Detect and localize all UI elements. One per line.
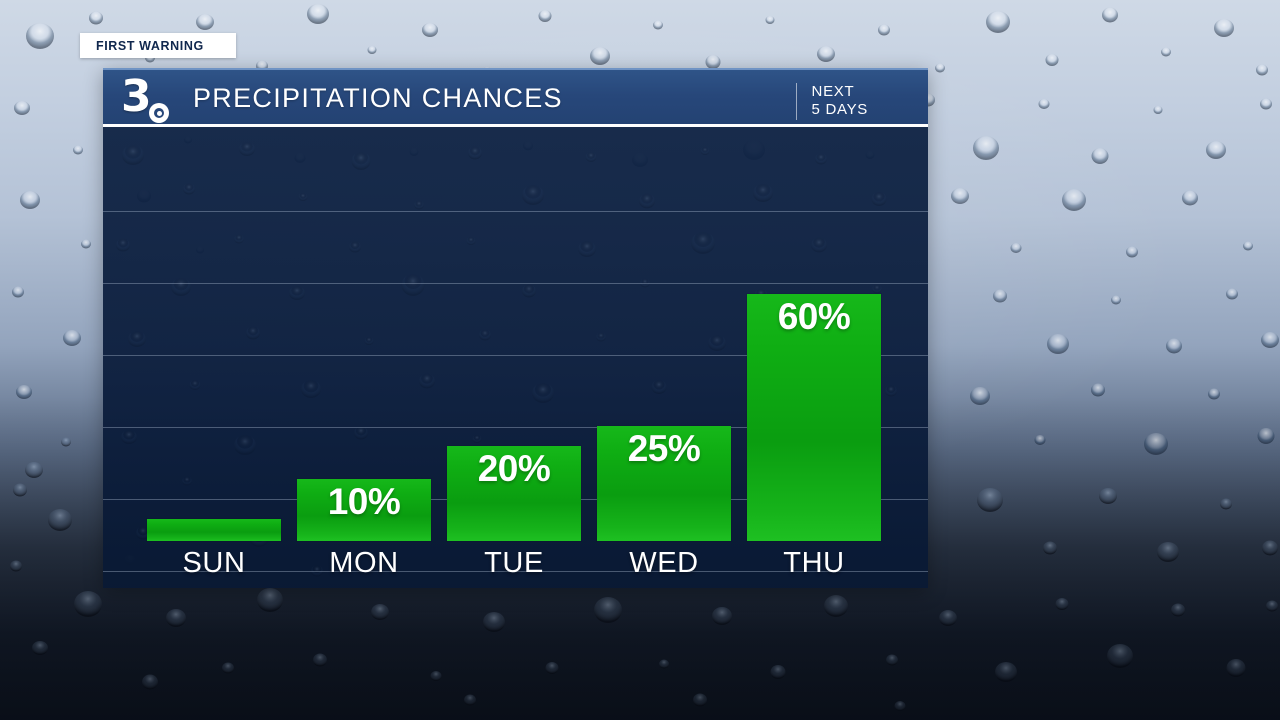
bar-group-wed: 25% WED [597,127,731,588]
bar-mon: 10% [297,479,431,541]
day-label-thu: THU [739,547,889,580]
forecast-range-line1: NEXT [812,83,868,101]
forecast-range: NEXT 5 DAYS [796,83,868,120]
precipitation-chart-panel: 3 PRECIPITATION CHANCES NEXT 5 DAYS [103,68,928,588]
bar-sun [147,519,281,541]
bar-group-tue: 20% TUE [447,127,581,588]
day-label-sun: SUN [139,547,289,580]
bar-value-wed: 25% [597,430,731,467]
bar-value-tue: 20% [447,450,581,487]
day-label-mon: MON [289,547,439,580]
logo-digit: 3 [121,75,150,119]
bar-chart-plot: SUN 10% MON 20% TUE 25% WED [103,127,928,588]
day-label-wed: WED [589,547,739,580]
first-warning-label: FIRST WARNING [96,39,204,53]
bar-wed: 25% [597,426,731,541]
bar-value-thu: 60% [747,298,881,335]
forecast-range-line2: 5 DAYS [812,101,868,119]
day-label-tue: TUE [439,547,589,580]
panel-header: 3 PRECIPITATION CHANCES NEXT 5 DAYS [103,68,928,127]
chart-body: SUN 10% MON 20% TUE 25% WED [103,127,928,588]
channel-3-logo-icon: 3 [119,69,175,127]
bar-group-mon: 10% MON [297,127,431,588]
logo-circle-core [157,111,162,116]
bar-thu: 60% [747,294,881,541]
bar-value-mon: 10% [297,483,431,520]
page-title: PRECIPITATION CHANCES [193,83,563,114]
bar-tue: 20% [447,446,581,541]
first-warning-tab: FIRST WARNING [80,33,236,58]
bar-group-thu: 60% THU [747,127,881,588]
bar-group-sun: SUN [147,127,281,588]
